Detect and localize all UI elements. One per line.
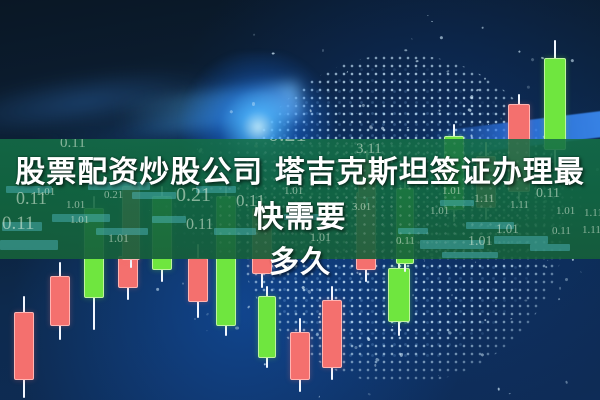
candle-down: [322, 286, 342, 380]
banner-image: 0.110.211.113.110.111.111.010.111.010.11…: [0, 0, 600, 400]
title-line-2: 多久: [0, 240, 600, 285]
candle-body: [258, 296, 276, 358]
candle-down: [14, 296, 34, 398]
candle-body: [14, 312, 34, 380]
candle-down: [290, 318, 310, 392]
title-line-1: 股票配资炒股公司 塔吉克斯坦签证办理最快需要: [0, 150, 600, 240]
candle-body: [544, 58, 566, 150]
page-title: 股票配资炒股公司 塔吉克斯坦签证办理最快需要 多久: [0, 150, 600, 285]
price-number: 0.21: [268, 139, 307, 147]
candle-up: [258, 286, 276, 368]
candle-body: [290, 332, 310, 380]
candle-body: [322, 300, 342, 368]
